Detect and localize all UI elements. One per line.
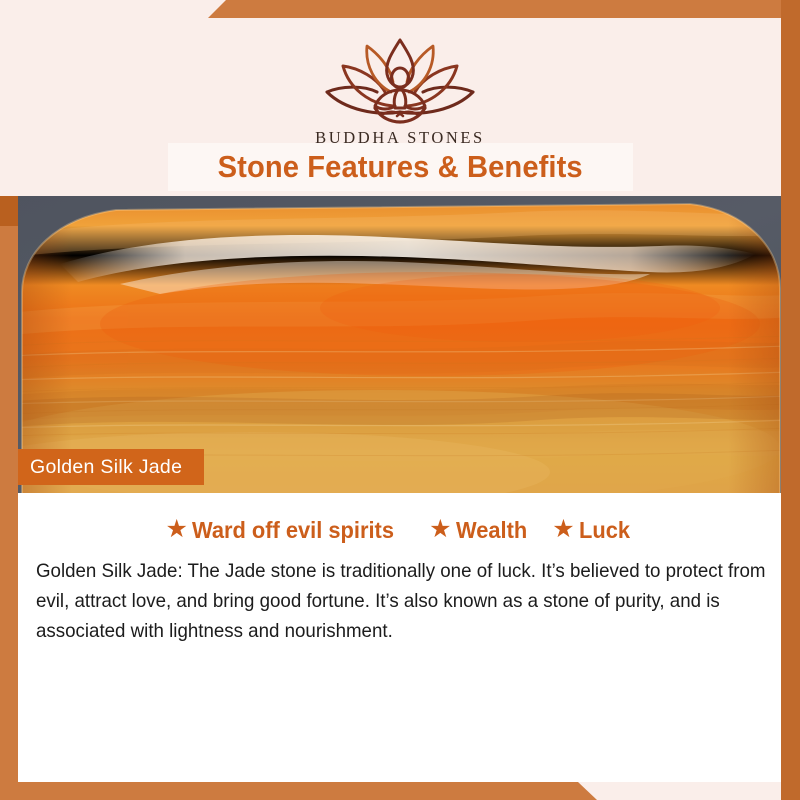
benefit-label: Wealth (456, 517, 527, 544)
frame-top-orange-bar (0, 0, 800, 18)
benefit-label: Ward off evil spirits (192, 517, 394, 544)
page-title: Stone Features & Benefits (218, 149, 583, 185)
star-icon: ★ (429, 517, 451, 542)
frame-left-accent-stub (0, 196, 18, 226)
content-panel: ★ Ward off evil spirits ★ Wealth ★ Luck … (18, 493, 781, 782)
brand-logo: BUDDHA STONES (0, 30, 800, 148)
benefit-item: ★ Luck (552, 517, 633, 544)
title-banner: Stone Features & Benefits (168, 143, 633, 191)
frame-bottom-orange-bar (0, 782, 800, 800)
lotus-meditation-figure-icon (305, 30, 495, 126)
stone-description: Golden Silk Jade: The Jade stone is trad… (36, 556, 794, 646)
frame-left-orange-bar (0, 196, 18, 800)
benefit-label: Luck (579, 517, 630, 544)
benefit-item: ★ Wealth (429, 517, 532, 544)
benefit-item: ★ Ward off evil spirits (166, 517, 410, 544)
star-icon: ★ (166, 517, 188, 542)
stone-name-label: Golden Silk Jade (0, 449, 204, 485)
stone-features-card: BUDDHA STONES Stone Features & Benefits (0, 0, 800, 800)
benefits-list: ★ Ward off evil spirits ★ Wealth ★ Luck (18, 517, 781, 544)
star-icon: ★ (552, 517, 574, 542)
stone-name-text: Golden Silk Jade (30, 456, 182, 479)
frame-right-orange-bar (781, 0, 800, 800)
